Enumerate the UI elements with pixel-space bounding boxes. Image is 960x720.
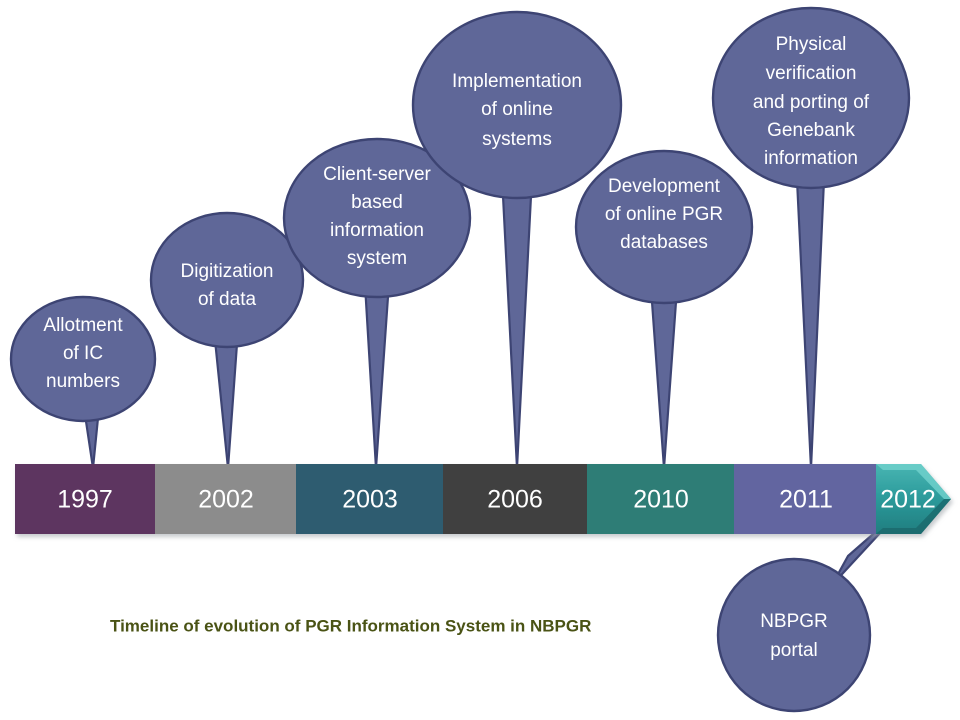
- year-label-2003: 2003: [342, 486, 398, 514]
- bubble-line: NBPGR: [760, 611, 828, 632]
- bubble-shape-2010: [576, 151, 752, 303]
- bubble-line: Client-server: [323, 164, 431, 185]
- bubble-line: Digitization: [181, 261, 274, 282]
- bubble-line: verification: [766, 63, 857, 84]
- bubble-line: Genebank: [767, 120, 855, 141]
- callout-bubble-1997[interactable]: Allotment of IC numbers: [11, 297, 155, 421]
- bubble-line: databases: [620, 232, 708, 253]
- tail-2002: [214, 330, 238, 468]
- bubble-line: of IC: [63, 343, 103, 364]
- callout-bubble-2002[interactable]: Digitization of data: [151, 213, 303, 347]
- bubble-line: of online PGR: [605, 204, 723, 225]
- bubble-line: portal: [770, 640, 818, 661]
- callout-bubble-2010[interactable]: Development of online PGR databases: [576, 151, 752, 303]
- bubble-line: Implementation: [452, 71, 582, 92]
- year-label-2011: 2011: [779, 486, 833, 514]
- tail-2011: [797, 180, 824, 468]
- tail-2006: [503, 196, 531, 468]
- timeline-diagram: 1997 2002 2003 2006 2010 2011 2012 Allot…: [0, 0, 960, 720]
- bubble-line: systems: [482, 129, 552, 150]
- bubble-line: based: [351, 192, 403, 213]
- callout-bubble-2012[interactable]: NBPGR portal: [718, 559, 870, 711]
- year-label-2006: 2006: [487, 486, 543, 514]
- callout-bubble-2006[interactable]: Implementation of online systems: [413, 12, 621, 198]
- bubble-line: system: [347, 248, 407, 269]
- bubble-line: of online: [481, 99, 553, 120]
- year-label-2002: 2002: [198, 486, 254, 514]
- bubble-line: information: [764, 148, 858, 169]
- diagram-caption: Timeline of evolution of PGR Information…: [110, 616, 591, 635]
- callout-bubbles: Allotment of IC numbers Digitization of …: [11, 8, 909, 711]
- callout-bubble-2011[interactable]: Physical verification and porting of Gen…: [713, 8, 909, 188]
- year-label-2010: 2010: [633, 486, 689, 514]
- bubble-line: of data: [198, 289, 257, 310]
- diagram-canvas: 1997 2002 2003 2006 2010 2011 2012 Allot…: [0, 0, 960, 720]
- year-label-2012: 2012: [880, 486, 936, 514]
- bubble-line: and porting of: [753, 92, 870, 113]
- bubble-line: numbers: [46, 371, 120, 392]
- bubble-line: information: [330, 220, 424, 241]
- bubble-line: Development: [608, 176, 721, 197]
- year-label-1997: 1997: [57, 486, 113, 514]
- bubble-line: Physical: [776, 34, 847, 55]
- bubble-shape-2012: [718, 559, 870, 711]
- tail-2010: [651, 288, 677, 468]
- bubble-line: Allotment: [43, 315, 123, 336]
